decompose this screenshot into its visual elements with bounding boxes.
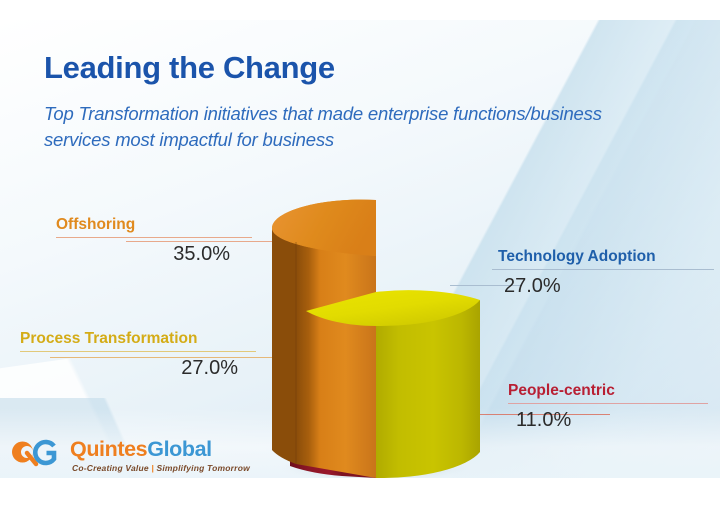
logo-wordmark: QuintesGlobal	[70, 437, 212, 462]
logo-tagline-right: Simplifying Tomorrow	[156, 463, 249, 473]
callout-label-process-transformation: Process Transformation	[20, 330, 258, 348]
callout-value-people-centric: 11.0%	[508, 409, 708, 432]
callout-label-people-centric: People-centric	[508, 382, 708, 400]
callout-rule-offshoring	[56, 237, 252, 238]
page-title: Leading the Change	[44, 50, 335, 86]
pie-chart-3d	[248, 180, 498, 478]
callout-label-offshoring: Offshoring	[56, 216, 254, 234]
page-subtitle: Top Transformation initiatives that made…	[44, 101, 624, 152]
slide-canvas: Leading the Change Top Transformation in…	[0, 20, 720, 478]
callout-rule-technology-adoption	[492, 269, 714, 270]
pie-slice-offshoring	[272, 200, 376, 478]
callout-label-technology-adoption: Technology Adoption	[498, 248, 716, 266]
callout-process-transformation: Process Transformation 27.0%	[20, 330, 258, 380]
qg-monogram-icon	[10, 435, 68, 474]
callout-people-centric: People-centric 11.0%	[508, 382, 708, 432]
logo-tagline-left: Co-Creating Value	[72, 463, 149, 473]
logo-tagline: Co-Creating Value | Simplifying Tomorrow	[72, 463, 250, 473]
logo-tagline-separator: |	[151, 463, 154, 473]
logo-word-quintes: Quintes	[70, 437, 147, 461]
callout-value-process-transformation: 27.0%	[20, 357, 258, 380]
company-logo: QuintesGlobal Co-Creating Value | Simpli…	[8, 431, 238, 478]
callout-rule-process-transformation	[20, 351, 256, 352]
callout-offshoring: Offshoring 35.0%	[56, 216, 254, 266]
callout-value-offshoring: 35.0%	[56, 243, 254, 266]
logo-word-global: Global	[147, 437, 212, 461]
callout-value-technology-adoption: 27.0%	[498, 275, 716, 298]
callout-technology-adoption: Technology Adoption 27.0%	[498, 248, 716, 298]
callout-rule-people-centric	[508, 403, 708, 404]
